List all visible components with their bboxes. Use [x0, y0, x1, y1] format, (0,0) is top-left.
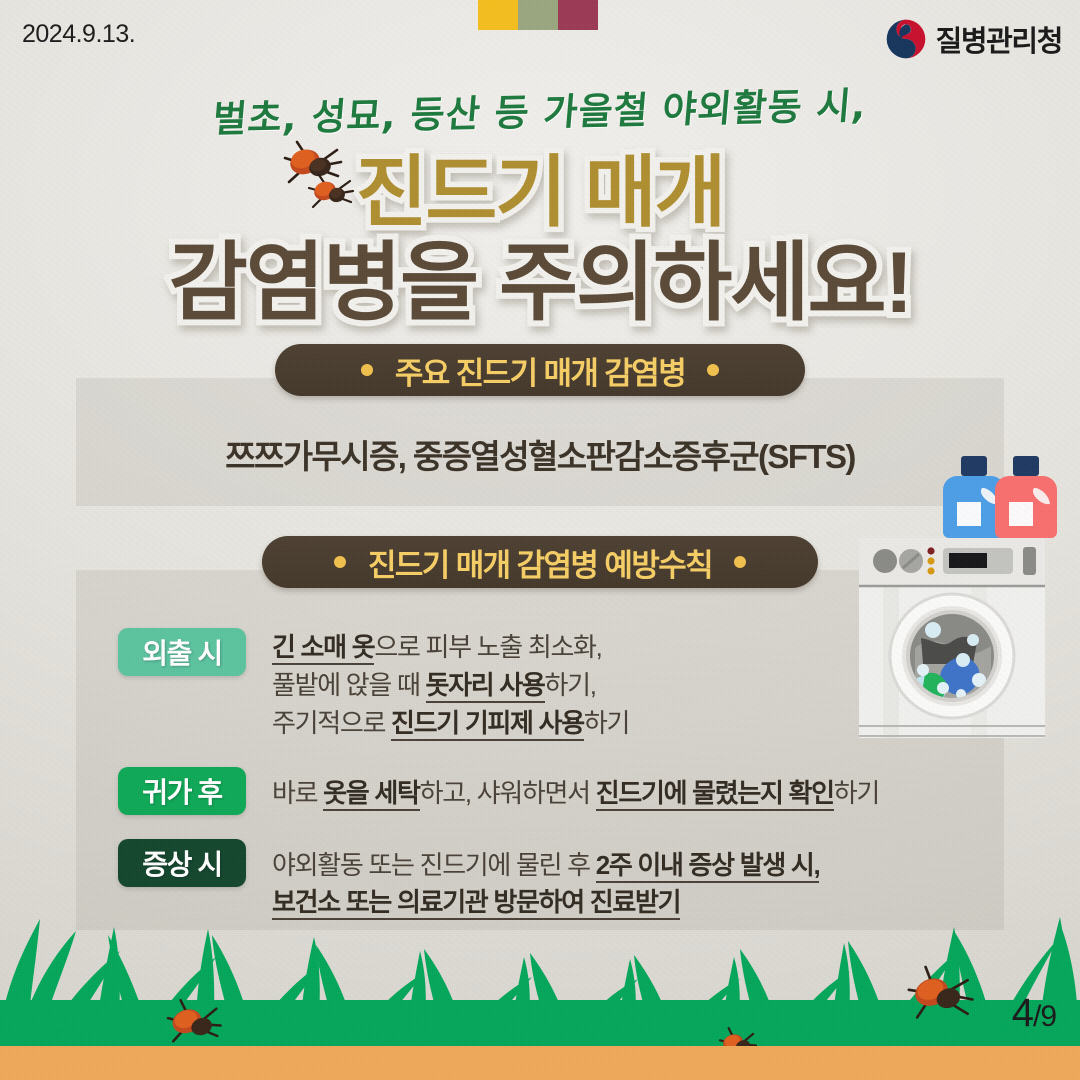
tricolor-swatch-1 [478, 0, 518, 30]
prevention-badge-return: 귀가 후 [118, 767, 246, 815]
banner-dot-icon [334, 556, 346, 568]
poster-canvas: 2024.9.13. 질병관리청 벌초, 성묘, 등산 등 가을철 야외활동 시… [0, 0, 1080, 1080]
tricolor-swatch-2 [518, 0, 558, 30]
title-gold-line: 진드기 매개 [0, 152, 1080, 233]
kdca-taegeuk-icon [885, 18, 927, 60]
prevention-row: 귀가 후 바로 옷을 세탁하고, 샤워하면서 진드기에 물렸는지 확인하기 [118, 767, 998, 815]
prevention-banner-label: 진드기 매개 감염병 예방수칙 [368, 540, 712, 585]
tricolor-accent-bar [478, 0, 598, 30]
banner-dot-icon [707, 364, 719, 376]
page-indicator: 4/9 [1012, 991, 1056, 1036]
page-total: 9 [1040, 1000, 1056, 1033]
prevention-text-return: 바로 옷을 세탁하고, 샤워하면서 진드기에 물렸는지 확인하기 [272, 767, 879, 812]
prevention-text-outing: 긴 소매 옷으로 피부 노출 최소화,풀밭에 앉을 때 돗자리 사용하기,주기적… [272, 628, 629, 743]
agency-logo: 질병관리청 [885, 18, 1062, 60]
title-script-line: 벌초, 성묘, 등산 등 가을철 야외활동 시, [0, 71, 1080, 148]
prevention-badge-outing: 외출 시 [118, 628, 246, 676]
page-current: 4 [1012, 991, 1033, 1035]
tick-icon [308, 172, 356, 217]
agency-name: 질병관리청 [936, 18, 1062, 60]
prevention-badge-symptom: 증상 시 [118, 839, 246, 887]
diseases-banner: 주요 진드기 매개 감염병 [275, 344, 805, 396]
banner-dot-icon [734, 556, 746, 568]
title-block: 벌초, 성묘, 등산 등 가을철 야외활동 시, 진드기 매개 감염병을 주의하… [0, 82, 1080, 329]
title-brown-line: 감염병을 주의하세요! [0, 239, 1080, 328]
publish-date: 2024.9.13. [22, 20, 135, 49]
washing-machine-icon [853, 448, 1068, 748]
banner-dot-icon [361, 364, 373, 376]
detergent-bottle-red [995, 456, 1057, 538]
diseases-banner-label: 주요 진드기 매개 감염병 [395, 348, 685, 393]
tricolor-swatch-3 [558, 0, 598, 30]
soil-strip [0, 1046, 1080, 1080]
prevention-banner: 진드기 매개 감염병 예방수칙 [262, 536, 818, 588]
